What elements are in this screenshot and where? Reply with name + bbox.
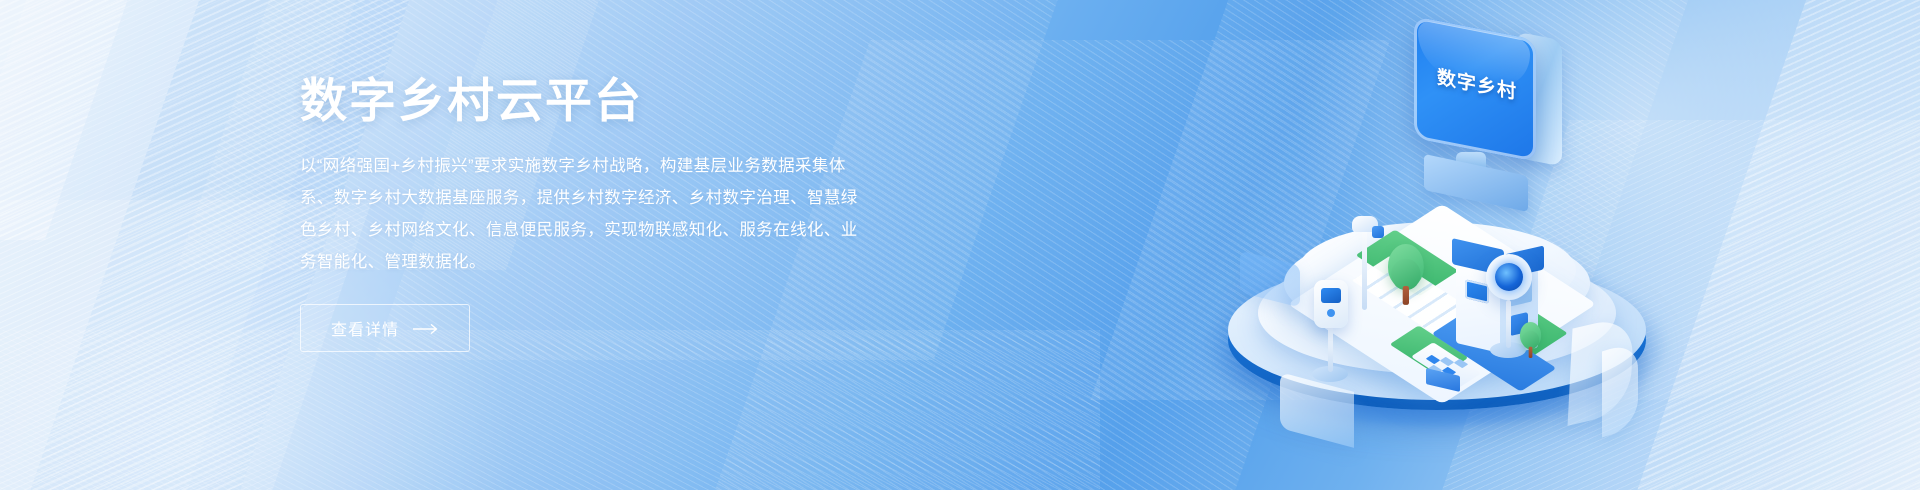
street-lamp-pole (1362, 224, 1367, 310)
security-camera-lens (1495, 263, 1523, 291)
security-camera-head (1486, 254, 1532, 300)
sensor-terminal-indicator (1327, 309, 1335, 317)
sensor-terminal-screen (1321, 288, 1341, 303)
tree-trunk (1529, 347, 1533, 358)
tree-trunk (1403, 286, 1409, 305)
view-details-label: 查看详情 (331, 316, 399, 340)
circular-podium (1202, 196, 1672, 446)
glass-panel-right-inner (1602, 340, 1638, 437)
page-title: 数字乡村云平台 (300, 74, 900, 128)
security-camera-pole (1506, 300, 1511, 348)
hero-description: 以“网络强国+乡村振兴”要求实施数字乡村战略，构建基层业务数据采集体系、数字乡村… (300, 150, 870, 278)
street-lamp-chip (1372, 226, 1384, 238)
sensor-terminal-head (1314, 280, 1348, 328)
digital-village-illustration: 数字乡村 (1150, 0, 1790, 490)
sensor-terminal-pole (1328, 324, 1333, 372)
arrow-right-icon (413, 322, 439, 334)
view-details-button[interactable]: 查看详情 (300, 304, 470, 352)
billboard-sign: 数字乡村 (1408, 22, 1608, 202)
hero-content: 数字乡村云平台 以“网络强国+乡村振兴”要求实施数字乡村战略，构建基层业务数据采… (300, 74, 900, 352)
hero-banner: 数字乡村云平台 以“网络强国+乡村振兴”要求实施数字乡村战略，构建基层业务数据采… (0, 0, 1920, 490)
payment-terminal (1418, 352, 1478, 392)
